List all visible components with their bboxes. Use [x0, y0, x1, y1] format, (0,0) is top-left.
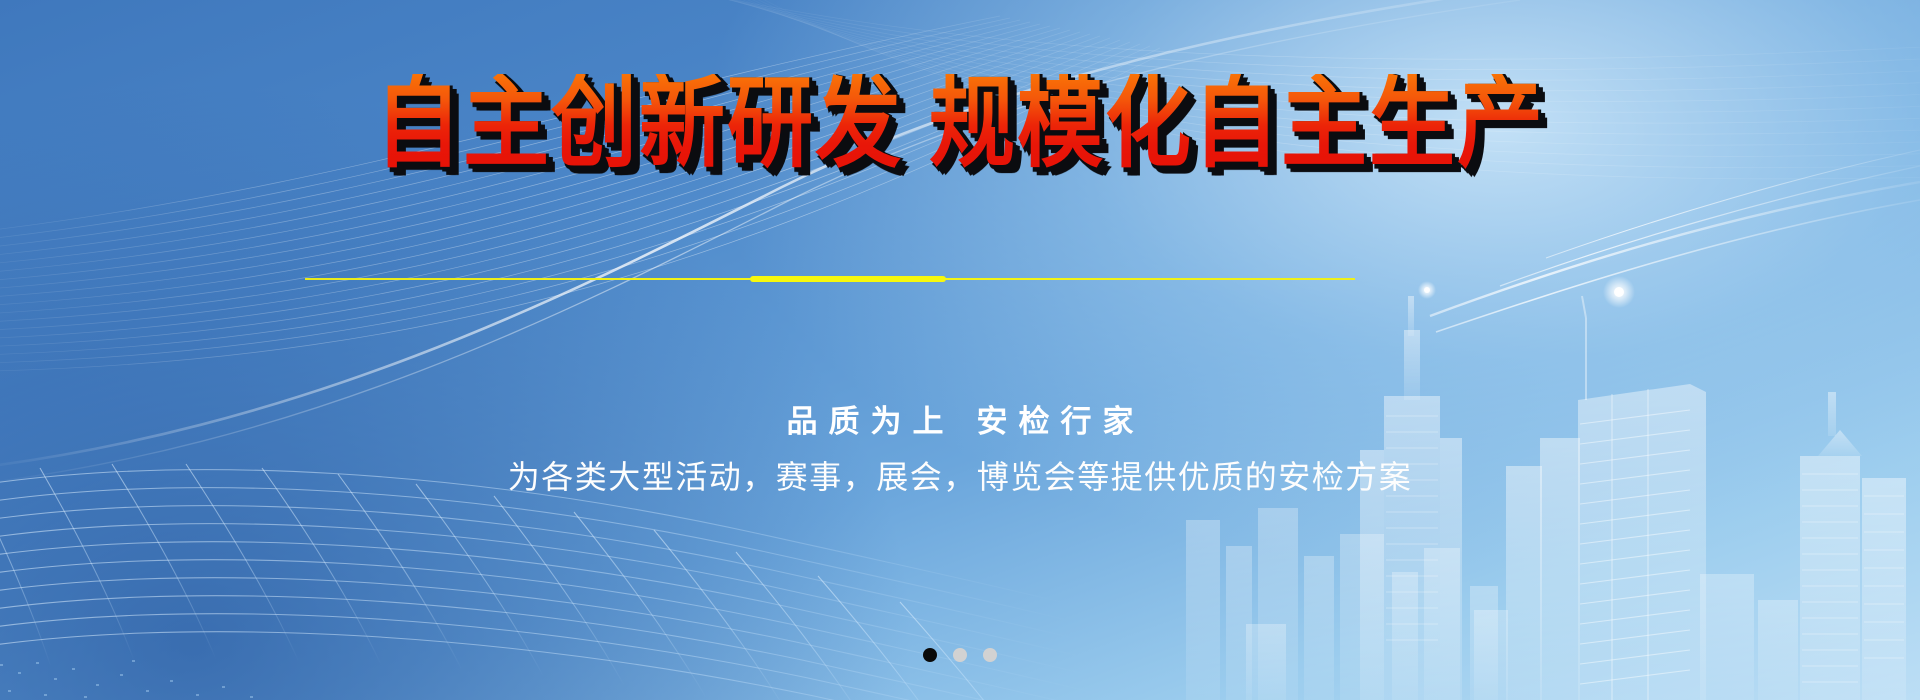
title-part-1: 自主创新研发 — [375, 66, 903, 182]
slogan-left: 品质为上 — [787, 404, 955, 440]
carousel-dot-3[interactable] — [983, 648, 997, 662]
yellow-divider — [305, 276, 1355, 282]
carousel-dot-2[interactable] — [953, 648, 967, 662]
title-part-2: 规模化自主生产 — [929, 66, 1545, 182]
banner-main-title: 自主创新研发规模化自主生产 — [375, 74, 1545, 174]
banner-subtitle-slogan: 品质为上安检行家 — [0, 396, 1920, 441]
title-container: 自主创新研发规模化自主生产 — [0, 74, 1920, 160]
hero-banner: 自主创新研发规模化自主生产 品质为上安检行家 为各类大型活动，赛事，展会，博览会… — [0, 0, 1920, 700]
divider-thick-accent — [750, 276, 946, 282]
slogan-right: 安检行家 — [977, 404, 1145, 440]
banner-description: 为各类大型活动，赛事，展会，博览会等提供优质的安检方案 — [0, 452, 1920, 498]
carousel-pagination[interactable] — [0, 648, 1920, 662]
carousel-dot-1[interactable] — [923, 648, 937, 662]
